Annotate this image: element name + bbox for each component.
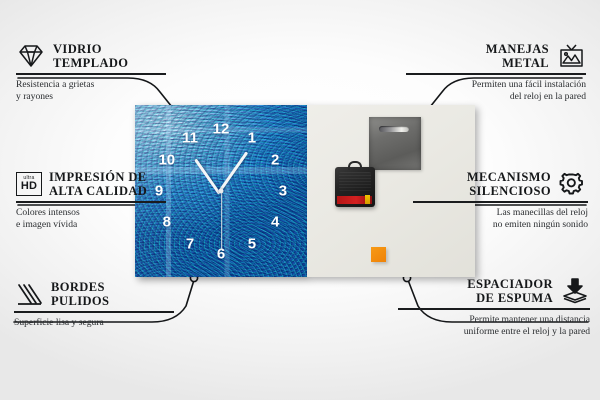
clock-numeral-7: 7 [186,237,194,252]
clock-numeral-12: 12 [213,122,230,137]
clock-numeral-11: 11 [182,130,198,145]
clock-second-hand [221,192,222,250]
callout-caption: Permite mantener una distancia uniforme … [398,314,590,339]
callout-rule [16,201,166,203]
callout-impresion-alta-calidad: ultra HD IMPRESIÓN DE ALTA CALIDAD Color… [16,170,166,231]
clock-numeral-2: 2 [271,153,279,168]
callout-manejas-metal: MANEJAS METAL Permiten una fácil instala… [406,42,586,103]
callout-vidrio-templado: VIDRIO TEMPLADO Resistencia a grietas y … [16,42,166,103]
diamond-icon [16,43,46,69]
callout-rule [406,73,586,75]
movement-body [339,172,371,191]
clock-numeral-4: 4 [271,214,279,229]
callout-mecanismo-silencioso: MECANISMO SILENCIOSO Las manecillas del … [413,170,588,231]
movement-battery-label [337,196,372,204]
metal-hanger-plate [369,117,421,170]
callout-caption: Colores intensos e imagen vívida [16,207,166,232]
callout-title: BORDES PULIDOS [51,280,109,308]
callout-caption: Permiten una fácil instalación del reloj… [406,79,586,104]
callout-bordes-pulidos: BORDES PULIDOS Superficie lisa y segura [14,280,174,329]
callout-caption: Superficie lisa y segura [14,317,174,329]
wall-frame-icon [556,43,586,69]
infographic-canvas: 12 1 2 3 4 5 6 7 8 9 10 11 [0,0,600,400]
clock-numeral-3: 3 [279,184,287,199]
callout-title: MECANISMO SILENCIOSO [467,170,551,198]
hanger-slot [379,126,409,132]
callout-rule [398,308,590,310]
callout-espaciador-espuma: ESPACIADOR DE ESPUMA Permite mantener un… [398,277,590,338]
polished-edges-icon [14,281,44,307]
callout-title: IMPRESIÓN DE ALTA CALIDAD [49,170,147,198]
movement-hanging-loop [348,161,362,170]
clock-center-hub [219,189,224,194]
callout-rule [413,201,588,203]
callout-caption: Las manecillas del reloj no emiten ningú… [413,207,588,232]
callout-caption: Resistencia a grietas y rayones [16,79,166,104]
clock-numeral-1: 1 [248,130,256,145]
foam-spacer-icon [560,277,590,305]
callout-rule [14,311,174,313]
callout-rule [16,73,166,75]
clock-numeral-10: 10 [158,153,175,168]
ultra-hd-icon: ultra HD [16,172,42,196]
callout-title: VIDRIO TEMPLADO [53,42,128,70]
gear-icon [558,171,588,197]
callout-title: ESPACIADOR DE ESPUMA [467,277,553,305]
foam-spacer-piece [371,247,386,262]
quartz-movement [335,167,375,207]
clock-numeral-5: 5 [248,237,256,252]
callout-title: MANEJAS METAL [486,42,549,70]
